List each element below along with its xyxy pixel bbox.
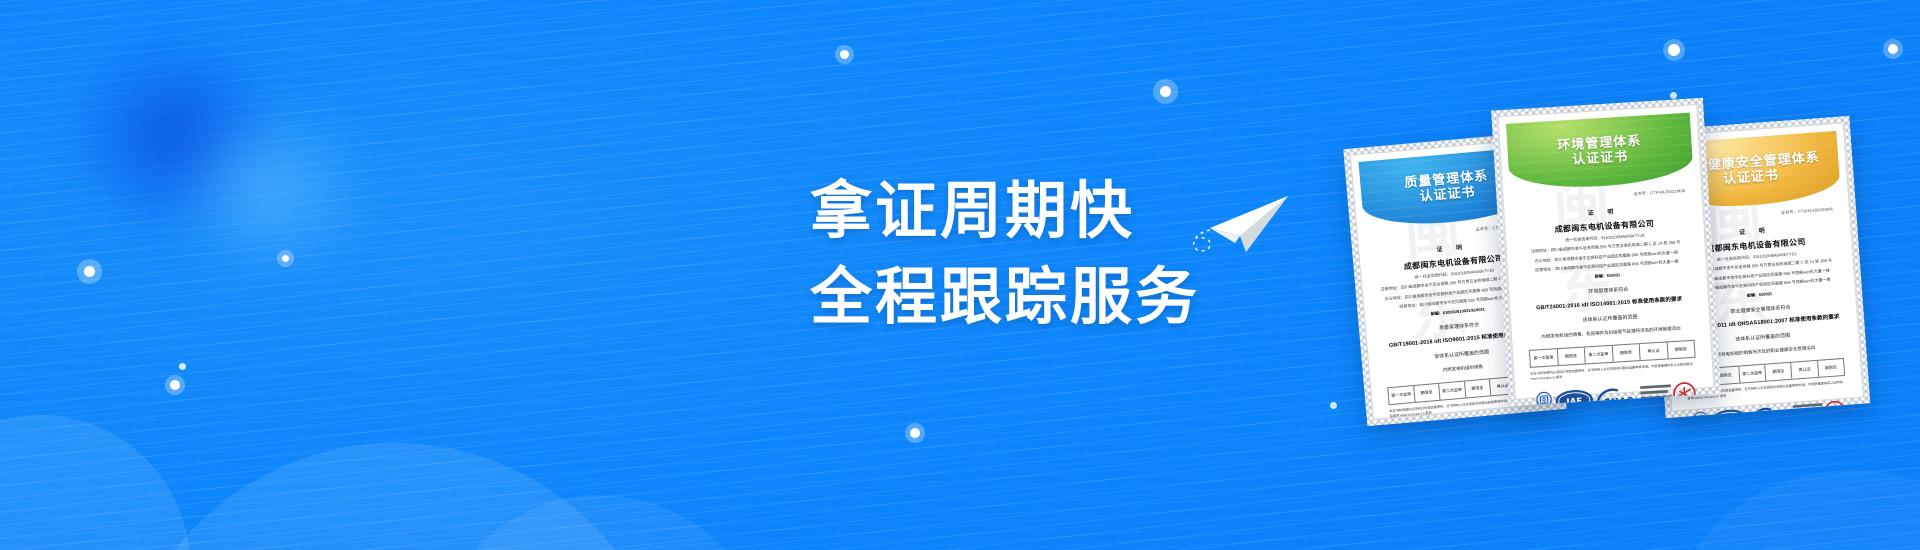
headline-line-2: 全程跟踪服务: [810, 254, 1330, 340]
certificate-title-line2: 认证证书: [1419, 186, 1476, 206]
cert-body-logo: [1491, 416, 1523, 427]
certificate-title-line2: 认证证书: [1723, 169, 1780, 188]
svg-text:CNAS: CNAS: [1603, 396, 1635, 406]
certificate-environment[interactable]: 闽东 环境管理体系 认证证书 证书号：CTKHK2002ZM06 证 明 成都闽…: [1491, 98, 1721, 406]
certificate-header: 环境管理体系 认证证书: [1506, 113, 1694, 192]
table-cell: 再认证: [1791, 360, 1818, 378]
table-cell: 期限至: [1818, 359, 1844, 377]
table-cell: 期限至: [1464, 379, 1491, 397]
iaf-logo: IAF: [1710, 405, 1751, 418]
table-cell: 第二次监审: [1585, 345, 1613, 363]
table-cell: 期限至: [1414, 383, 1441, 401]
decorative-dot: [1668, 44, 1680, 56]
decorative-dot: [84, 266, 95, 277]
certificate-body: 证书号：CTKHK2002ZM06 证 明 成都闽东电机设备有限公司 统一社会信…: [1520, 188, 1697, 388]
paper-plane-icon: [1188, 186, 1298, 256]
svg-text:CNAS: CNAS: [1757, 415, 1787, 419]
certificate-scope: 内燃发电机组的销售、机房噪声及机组尾气处理所涉及的环境管理活动: [1528, 324, 1694, 342]
decorative-dot: [282, 255, 289, 262]
iaf-logo: IAF: [1411, 422, 1451, 426]
table-cell: 期限至: [1667, 340, 1694, 358]
cnas-logo: CNAS: [1748, 402, 1793, 418]
decorative-dot: [179, 363, 186, 370]
certificate-title-line2: 认证证书: [1572, 150, 1629, 168]
table-cell: 再认证: [1640, 342, 1668, 360]
decorative-dot: [910, 428, 920, 438]
certificate-inner: 闽东 环境管理体系 认证证书 证书号：CTKHK2002ZM06 证 明 成都闽…: [1499, 105, 1714, 399]
cnca-logo: 中国认证: [1533, 388, 1555, 406]
cert-body-logo: [1792, 399, 1825, 418]
decorative-dot: [1160, 86, 1171, 97]
background-light-blob: [175, 105, 365, 275]
svg-text:IAF: IAF: [1722, 414, 1738, 418]
red-seal: [1822, 398, 1846, 418]
table-cell: 第一次监审: [1388, 386, 1415, 404]
svg-text:IAF: IAF: [1567, 396, 1583, 406]
hero-banner: 拿证周期快 全程跟踪服务 闽东 质量管理体系 认证证书: [0, 0, 1920, 550]
decorative-dot: [840, 50, 849, 59]
table-cell: 第一次监审: [1530, 349, 1558, 367]
table-cell: 期限至: [1612, 344, 1640, 362]
table-cell: 期限至: [1765, 362, 1792, 380]
decorative-dot: [1330, 402, 1337, 409]
decorative-dot: [170, 380, 180, 390]
table-cell: 期限至: [1557, 347, 1585, 365]
certificate-number: 证书号：CTKHK2002ZM06: [1520, 188, 1686, 204]
certificate-group: 闽东 质量管理体系 认证证书 证书号：CTKHK2001ZM06 证 明 成都闽…: [1355, 90, 1920, 470]
table-cell: 第二次监审: [1739, 364, 1766, 382]
table-cell: 第二次监审: [1439, 381, 1466, 399]
certificate-logo-row: 中国认证 IAF CNAS: [1688, 398, 1848, 418]
cnas-logo: CNAS: [1594, 383, 1641, 406]
decorative-dot: [1888, 44, 1898, 54]
red-seal: [1520, 414, 1544, 426]
cnca-logo: 中国认证: [1393, 425, 1414, 426]
cnca-logo: 中国认证: [1690, 408, 1711, 418]
cnas-logo: CNAS: [1449, 418, 1493, 426]
